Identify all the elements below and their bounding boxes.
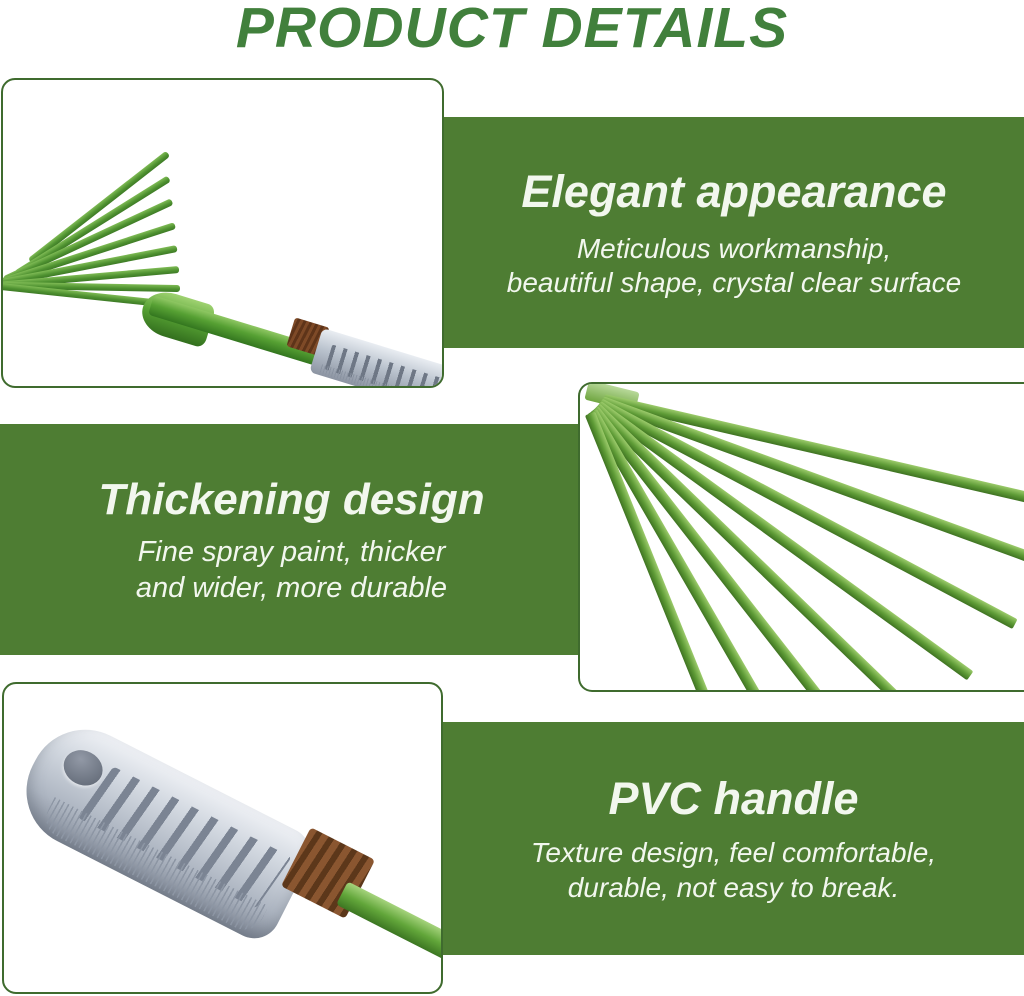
page-title: PRODUCT DETAILS — [0, 0, 1024, 58]
panel-subtext-line-1: Fine spray paint, thicker — [138, 534, 446, 570]
panel-subtext-line-1: Texture design, feel comfortable, — [531, 835, 936, 870]
feature-panel-pvc-handle: PVC handle Texture design, feel comforta… — [443, 722, 1024, 955]
panel-heading: Thickening design — [98, 474, 484, 526]
feature-panel-elegant-appearance: Elegant appearance Meticulous workmanshi… — [444, 117, 1024, 348]
rake-shaft — [336, 881, 443, 963]
green-rake-tines-closeup-photo — [580, 384, 1024, 690]
panel-heading: Elegant appearance — [521, 166, 946, 218]
panel-heading: PVC handle — [608, 773, 858, 825]
feature-panel-thickening-design: Thickening design Fine spray paint, thic… — [0, 424, 583, 655]
grey-pvc-handle-closeup-photo — [4, 684, 441, 992]
panel-subtext-line-2: and wider, more durable — [136, 570, 447, 606]
pvc-handle — [309, 328, 444, 388]
product-photo-frame-tines-closeup — [578, 382, 1024, 692]
product-photo-frame-pvc-handle — [2, 682, 443, 994]
green-fan-rake-full-view-photo — [3, 80, 442, 386]
handle-vent-slots — [325, 345, 444, 388]
panel-subtext-line-2: durable, not easy to break. — [568, 870, 900, 905]
panel-subtext-line-1: Meticulous workmanship, — [577, 232, 891, 266]
pvc-handle-grip — [7, 710, 319, 947]
panel-subtext-line-2: beautiful shape, crystal clear surface — [507, 266, 961, 300]
product-photo-frame-full-rake — [1, 78, 444, 388]
